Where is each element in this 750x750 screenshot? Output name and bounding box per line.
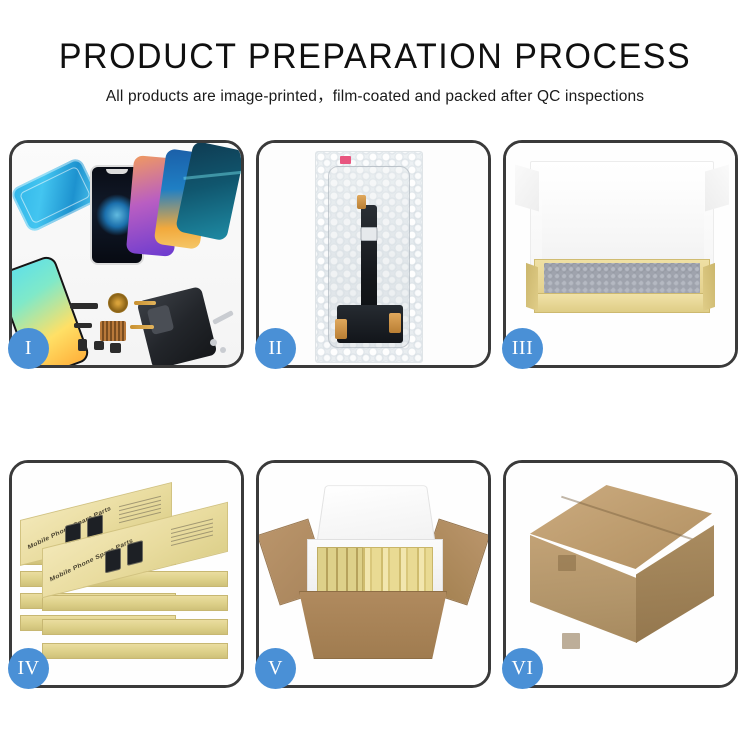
foam-box-lid [316,485,435,543]
part-flex-cable-2 [130,325,154,329]
inner-box-scene [506,143,735,365]
step-5-image [259,463,488,685]
box-lid-label-2: Mobile Phone Spare Parts [49,537,133,583]
step-badge-6: VI [502,648,543,689]
grey-foam-padding [544,263,700,293]
tool-tweezers [212,310,234,325]
box-slab-6 [42,595,228,611]
process-step-panel-5[interactable]: V [256,460,491,688]
page-title: PRODUCT PREPARATION PROCESS [11,36,739,78]
part-speaker-coil [108,293,128,313]
step-2-image [259,143,488,365]
kraft-tray-side-right [703,263,715,311]
part-screw-2 [220,347,226,353]
packed-yellow-boxes-left [317,547,363,593]
part-screw-1 [210,339,217,346]
step-1-image [12,143,241,365]
part-flex-cable-1 [134,301,156,305]
step-4-image: Mobile Phone Spare Parts Mobile Phone Sp… [12,463,241,685]
process-step-panel-4[interactable]: Mobile Phone Spare Parts Mobile Phone Sp… [9,460,244,688]
screen-protector-film [12,156,101,233]
process-step-panel-2[interactable]: II [256,140,491,368]
part-vibrator [94,341,104,350]
step-badge-4: IV [8,648,49,689]
box-slab-8 [42,643,228,659]
part-chip-array [100,321,126,341]
bubble-wrap-bag [315,151,423,363]
stacked-boxes-scene: Mobile Phone Spare Parts Mobile Phone Sp… [12,463,241,685]
step-badge-3: III [502,328,543,369]
box-slab-7 [42,619,228,635]
step-badge-5: V [255,648,296,689]
part-antenna [74,323,92,328]
pink-label-tab [340,156,351,164]
box-stack: Mobile Phone Spare Parts Mobile Phone Sp… [12,475,241,685]
gold-tape-top [357,195,366,209]
box-lid-phone-img-2a [105,547,121,573]
carton-tape-lower [562,633,580,649]
process-step-panel-3[interactable]: III [503,140,738,368]
carton-packing-scene [259,463,488,685]
page-header: PRODUCT PREPARATION PROCESS All products… [0,0,750,108]
part-camera-module [78,339,87,351]
process-step-panel-6[interactable]: VI [503,460,738,688]
process-step-panel-1[interactable]: I [9,140,244,368]
step-badge-1: I [8,328,49,369]
step-6-image [506,463,735,685]
gold-tape-left [335,319,347,339]
carton-tape-upper [558,555,576,571]
part-connector-strip [70,303,98,309]
kraft-tray-front [534,293,710,313]
gold-tape-right [389,313,401,333]
page-subtitle: All products are image-printed，film-coat… [0,86,750,108]
product-preparation-page: PRODUCT PREPARATION PROCESS All products… [0,0,750,750]
box-lid-spec-lines-2 [171,519,213,549]
phone-parts-scene [12,143,241,365]
step-3-image [506,143,735,365]
white-box-interior [542,195,704,267]
process-step-grid: I [9,140,741,690]
carton-body [299,591,447,659]
sealed-carton-scene [506,463,735,685]
bubble-wrap-scene [259,143,488,365]
kraft-tray-side-left [526,263,538,311]
step-badge-2: II [255,328,296,369]
box-lid-phone-img-2b [127,540,143,566]
part-button [110,343,121,353]
lcd-connector [361,227,378,241]
lcd-screen-assembly [328,166,410,348]
